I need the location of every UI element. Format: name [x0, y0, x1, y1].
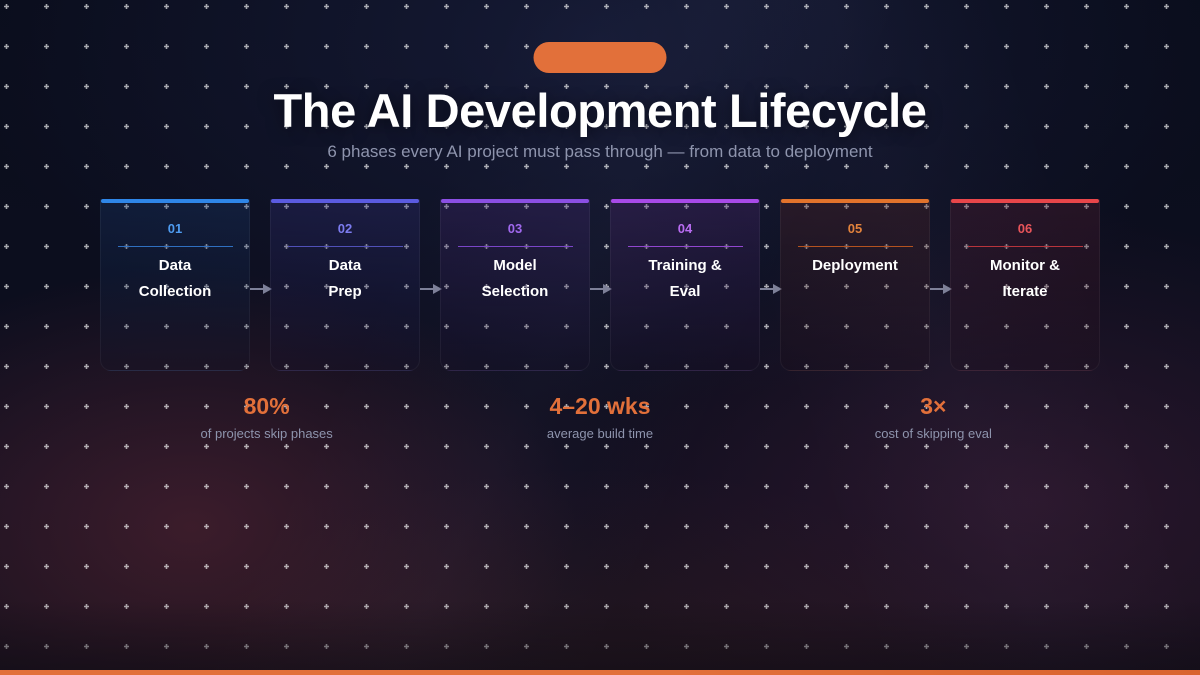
- phase-title-line: Selection: [449, 279, 581, 305]
- phase-divider: [798, 246, 913, 247]
- phase-card-body: 04Training &Eval: [611, 203, 759, 370]
- phase-title-line: Monitor &: [959, 253, 1091, 279]
- stat-value: 4–20 wks: [433, 392, 766, 420]
- phase-title-line: Deployment: [789, 253, 921, 279]
- header-badge: [534, 42, 667, 73]
- phase-title-line: Collection: [109, 279, 241, 305]
- phase-card-05[interactable]: 05Deployment: [780, 199, 930, 371]
- phase-card-01[interactable]: 01DataCollection: [100, 199, 250, 371]
- phase-title: Deployment: [781, 253, 929, 279]
- phase-card-body: 06Monitor &Iterate: [951, 203, 1099, 370]
- phase-connector-arrow: [760, 284, 782, 294]
- phase-title: Monitor &Iterate: [951, 253, 1099, 305]
- arrow-shaft: [930, 288, 944, 290]
- arrow-shaft: [250, 288, 264, 290]
- phase-title: DataPrep: [271, 253, 419, 305]
- phase-connector-arrow: [930, 284, 952, 294]
- phase-title-line: Data: [279, 253, 411, 279]
- bottom-shadow: [0, 600, 1200, 670]
- phase-card-body: 05Deployment: [781, 203, 929, 370]
- phase-title-line: Model: [449, 253, 581, 279]
- phase-card-03[interactable]: 03ModelSelection: [440, 199, 590, 371]
- phase-divider: [968, 246, 1083, 247]
- phase-number: 01: [101, 222, 249, 235]
- phase-connector-arrow: [250, 284, 272, 294]
- phase-title-line: Data: [109, 253, 241, 279]
- phase-number: 05: [781, 222, 929, 235]
- phase-card-04[interactable]: 04Training &Eval: [610, 199, 760, 371]
- phase-title: Training &Eval: [611, 253, 759, 305]
- arrow-shaft: [590, 288, 604, 290]
- phase-connector-arrow: [420, 284, 442, 294]
- stat-item: 80%of projects skip phases: [100, 392, 433, 442]
- page-title: The AI Development Lifecycle: [0, 83, 1200, 138]
- phase-divider: [628, 246, 743, 247]
- stats-row: 80%of projects skip phases4–20 wksaverag…: [100, 392, 1100, 442]
- stat-value: 80%: [100, 392, 433, 420]
- phase-title: DataCollection: [101, 253, 249, 305]
- phase-connector-arrow: [590, 284, 612, 294]
- phase-card-body: 03ModelSelection: [441, 203, 589, 370]
- phase-divider: [118, 246, 233, 247]
- slide-canvas: The AI Development Lifecycle 6 phases ev…: [0, 0, 1200, 675]
- arrow-shaft: [760, 288, 774, 290]
- stat-label: of projects skip phases: [100, 426, 433, 442]
- phase-number: 02: [271, 222, 419, 235]
- stat-label: average build time: [433, 426, 766, 442]
- phase-divider: [458, 246, 573, 247]
- phase-card-body: 01DataCollection: [101, 203, 249, 370]
- phase-title-line: Iterate: [959, 279, 1091, 305]
- phase-divider: [288, 246, 403, 247]
- phase-card-02[interactable]: 02DataPrep: [270, 199, 420, 371]
- phase-number: 03: [441, 222, 589, 235]
- phase-number: 06: [951, 222, 1099, 235]
- page-subtitle: 6 phases every AI project must pass thro…: [0, 142, 1200, 162]
- phase-card-06[interactable]: 06Monitor &Iterate: [950, 199, 1100, 371]
- stat-value: 3×: [767, 392, 1100, 420]
- phase-title-line: Eval: [619, 279, 751, 305]
- stat-item: 3×cost of skipping eval: [767, 392, 1100, 442]
- stat-label: cost of skipping eval: [767, 426, 1100, 442]
- phase-card-row: 01DataCollection02DataPrep03ModelSelecti…: [100, 199, 1100, 371]
- phase-title-line: Training &: [619, 253, 751, 279]
- phase-card-body: 02DataPrep: [271, 203, 419, 370]
- bottom-accent-bar: [0, 670, 1200, 675]
- phase-title: ModelSelection: [441, 253, 589, 305]
- arrow-shaft: [420, 288, 434, 290]
- phase-number: 04: [611, 222, 759, 235]
- stat-item: 4–20 wksaverage build time: [433, 392, 766, 442]
- phase-title-line: Prep: [279, 279, 411, 305]
